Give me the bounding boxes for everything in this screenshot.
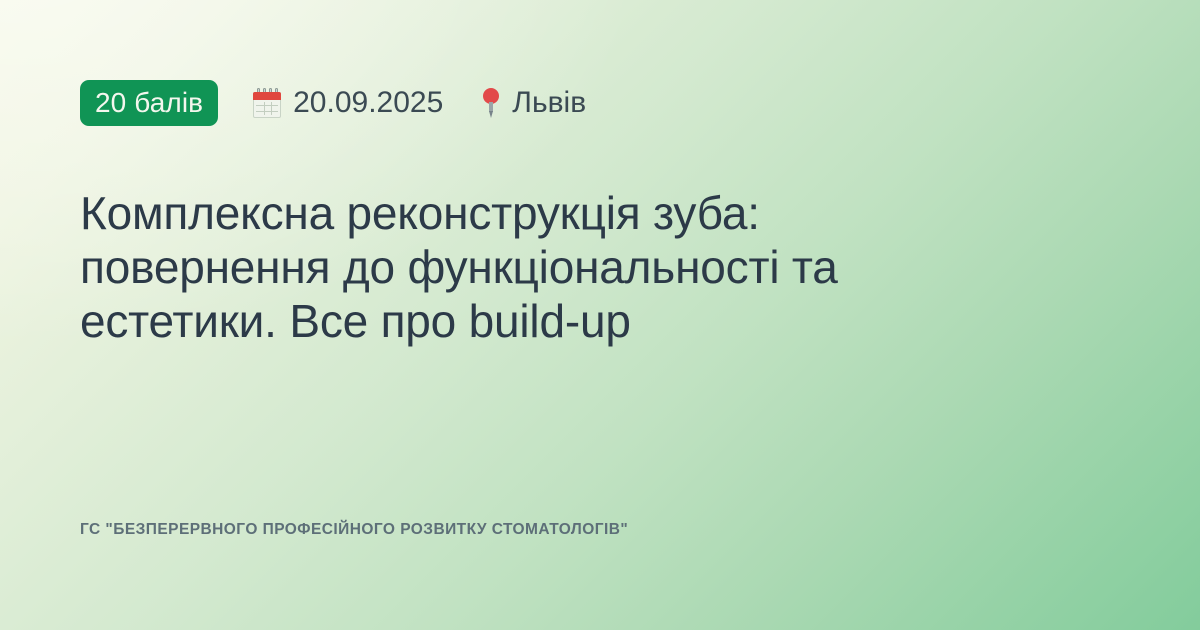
calendar-icon: [253, 88, 281, 118]
event-card: 20 балів 20.09.2025 Львів: [0, 0, 1200, 630]
event-location-label: Львів: [512, 88, 586, 118]
title-line-2: повернення до функціональності та: [80, 240, 1090, 294]
title-line-3: естетики. Все про build-up: [80, 294, 1090, 348]
points-badge: 20 балів: [80, 80, 218, 126]
organization-footer: ГС "БЕЗПЕРЕРВНОГО ПРОФЕСІЙНОГО РОЗВИТКУ …: [80, 521, 1120, 550]
meta-row: 20 балів 20.09.2025 Львів: [80, 80, 1120, 126]
event-date-label: 20.09.2025: [293, 88, 443, 118]
title-line-1: Комплексна реконструкція зуба:: [80, 186, 1090, 240]
card-content: 20 балів 20.09.2025 Львів: [0, 0, 1200, 630]
event-location: Львів: [480, 87, 586, 119]
page-title: Комплексна реконструкція зуба: поверненн…: [80, 186, 1090, 348]
event-date: 20.09.2025: [253, 88, 443, 118]
location-pin-icon: [480, 87, 502, 119]
